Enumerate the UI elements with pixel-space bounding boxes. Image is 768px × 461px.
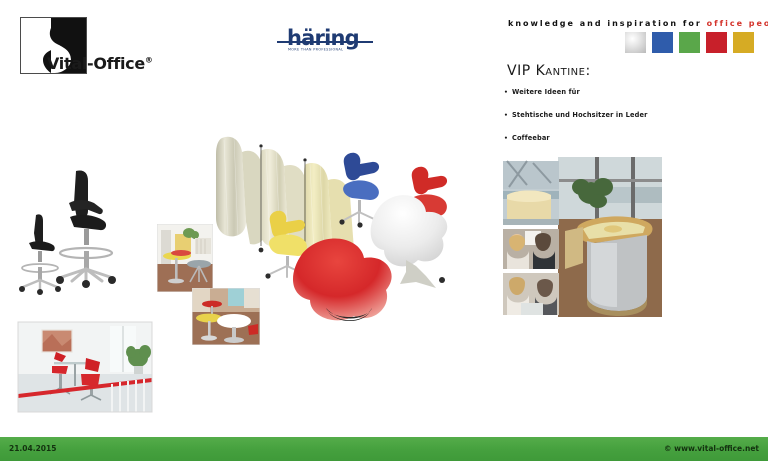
brand-color-swatches xyxy=(625,32,754,53)
list-item: Stehtische und Hochsitzer in Leder xyxy=(504,111,734,119)
footer-date: 21.04.2015 xyxy=(9,444,56,453)
list-item: Coffeebar xyxy=(504,134,734,142)
standing-tables-photo-2 xyxy=(192,288,260,345)
haering-subtitle: MORE THAN PROFESSIONAL xyxy=(288,47,343,51)
page-title: VIP Kantine: xyxy=(507,63,591,79)
list-item: Weitere Ideen für xyxy=(504,88,734,96)
coffeebar-collage xyxy=(503,157,662,317)
vital-office-logo-text: Vital-Office® xyxy=(47,54,153,73)
swatch-gold xyxy=(733,32,754,53)
swatch-green xyxy=(679,32,700,53)
vital-office-logo: Vital-Office® xyxy=(20,17,87,74)
slide-page: Vital-Office® häring MORE THAN PROFESSIO… xyxy=(0,0,768,461)
office-interior-photo xyxy=(18,322,152,412)
drafting-stools-photo xyxy=(14,163,124,298)
tagline-accent: office people xyxy=(707,19,768,28)
header-tagline: knowledge and inspiration for office peo… xyxy=(508,19,768,28)
bullet-list: Weitere Ideen für Stehtische und Hochsit… xyxy=(504,88,734,157)
swatch-blue xyxy=(652,32,673,53)
footer-copyright: © www.vital-office.net xyxy=(664,444,759,453)
haering-logo: häring MORE THAN PROFESSIONAL xyxy=(277,28,373,54)
standing-tables-photo-1 xyxy=(157,224,213,292)
swatch-silver xyxy=(625,32,646,53)
swatch-red xyxy=(706,32,727,53)
footer-bar: 21.04.2015 © www.vital-office.net xyxy=(0,437,768,461)
tagline-main: knowledge and inspiration for xyxy=(508,19,702,28)
